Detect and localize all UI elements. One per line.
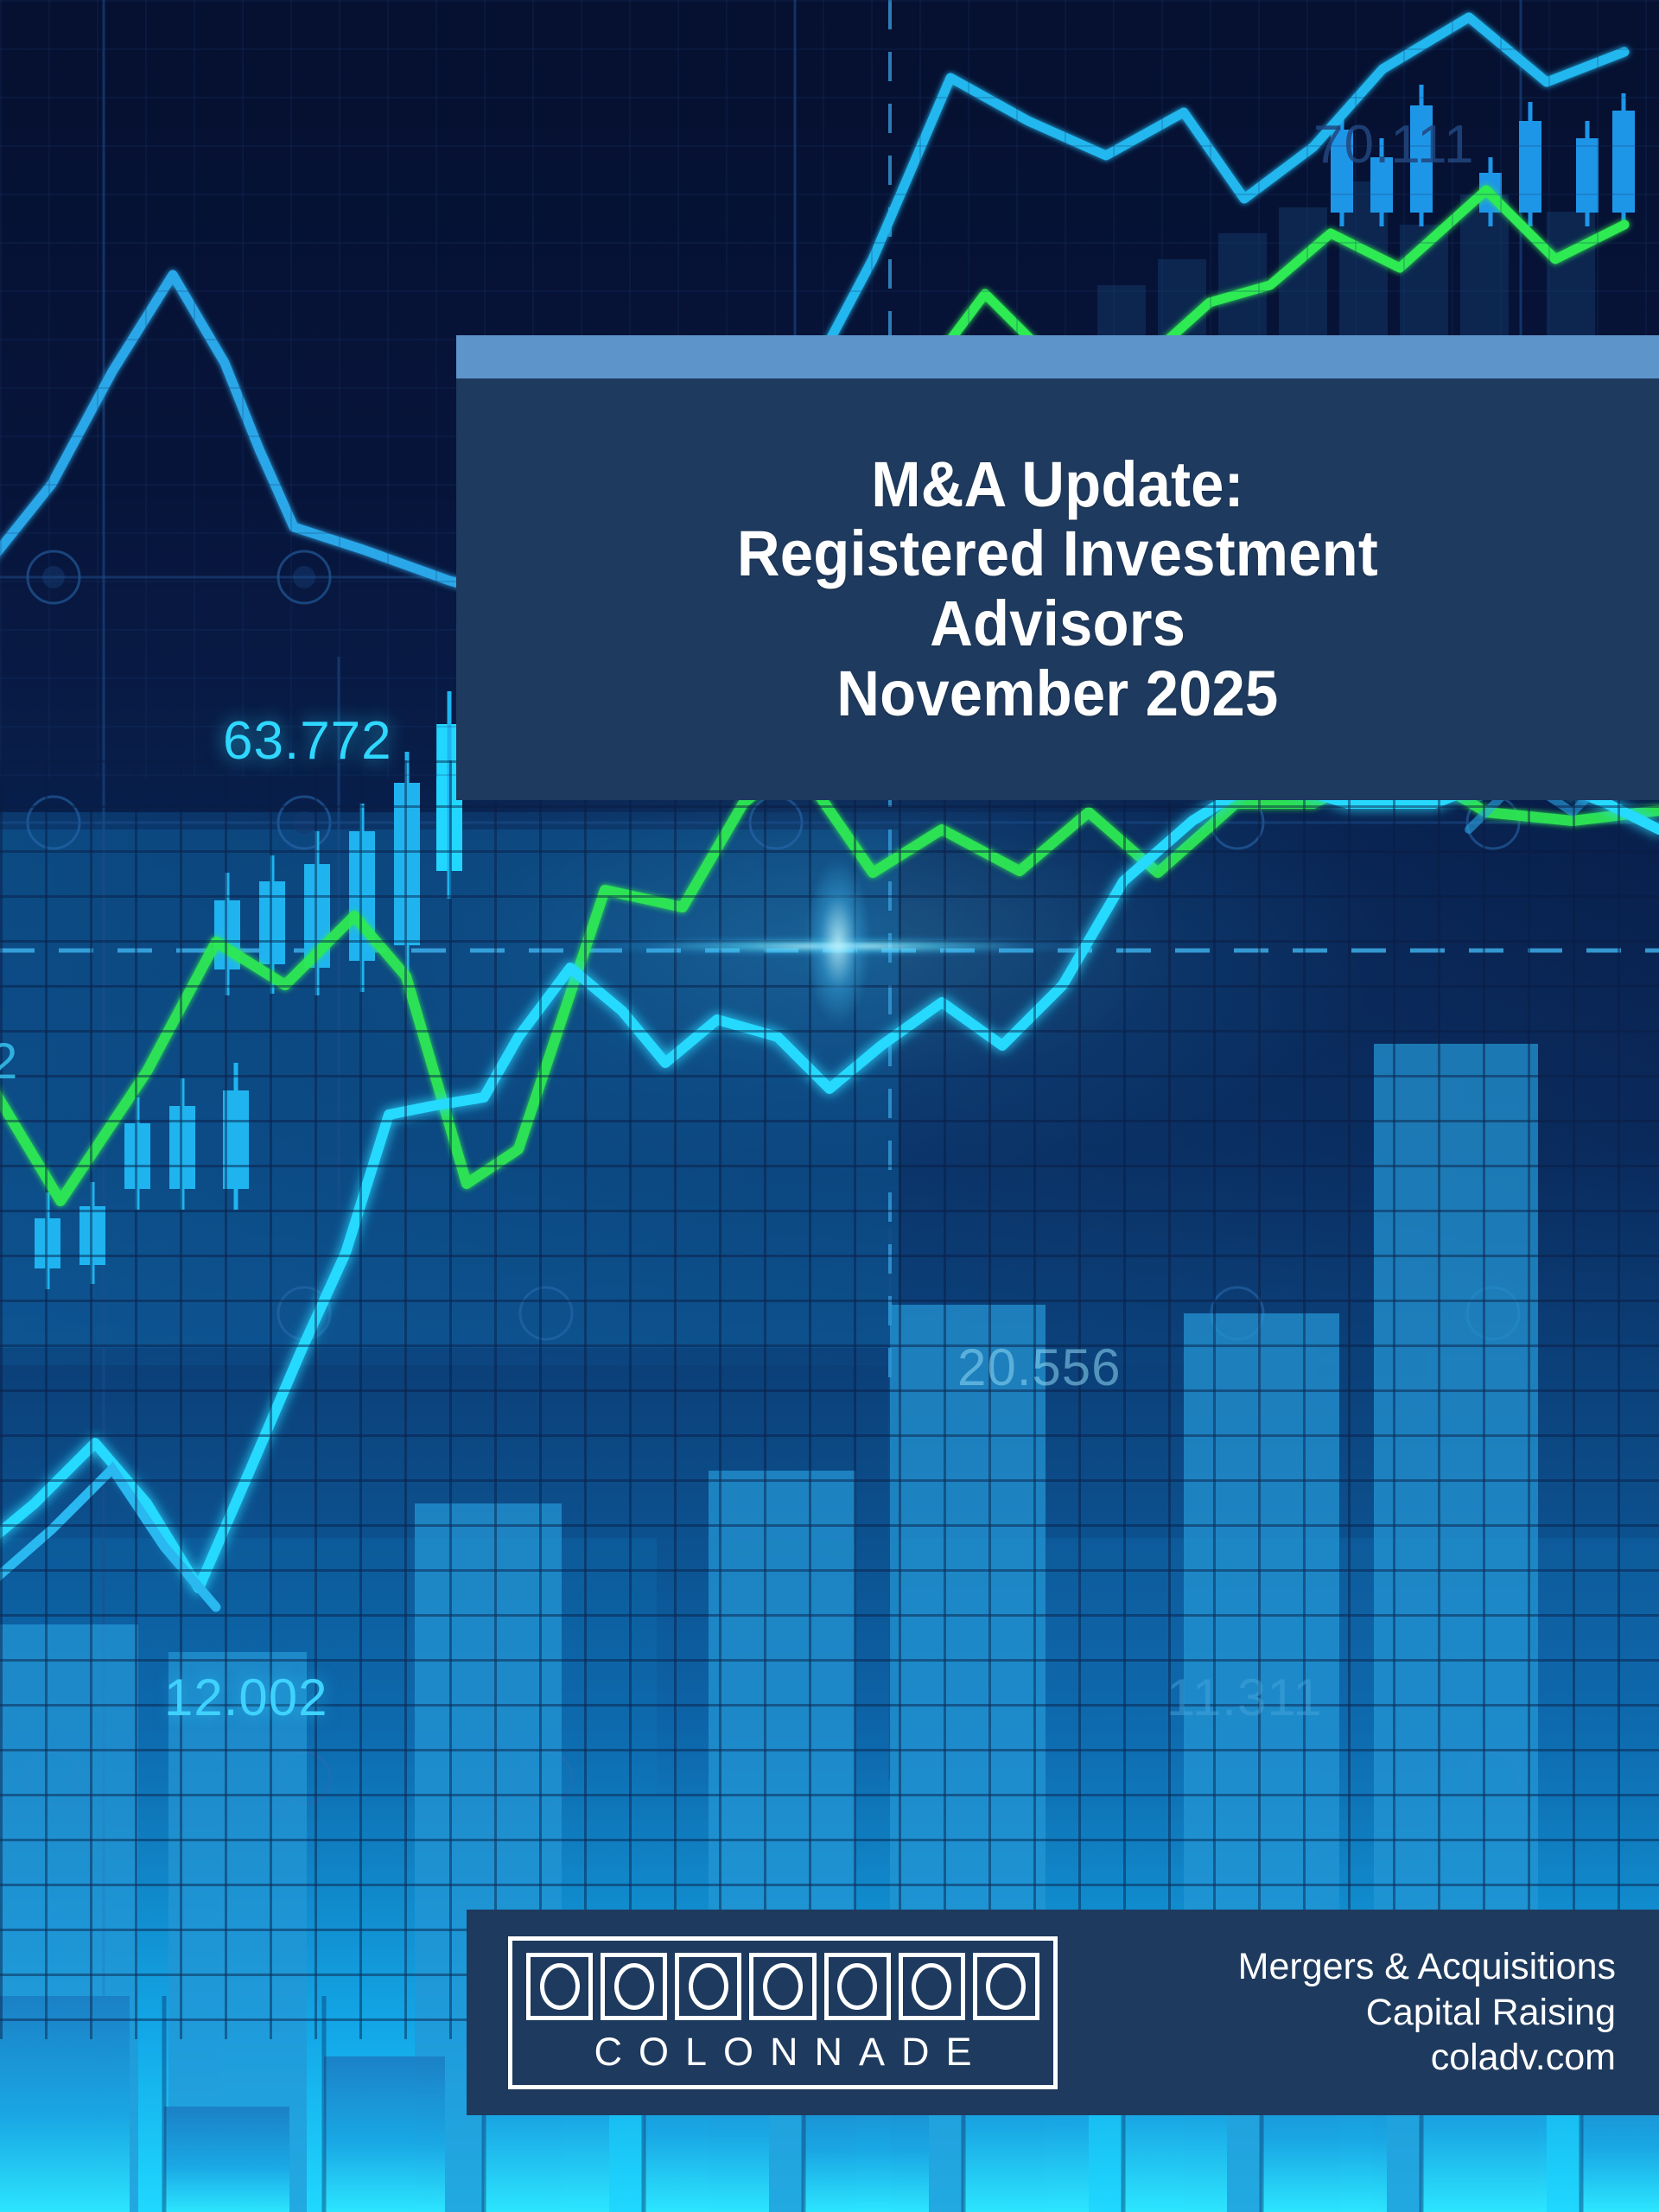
- logo-column-icon: [526, 1953, 593, 2020]
- financial-background-illustration: [0, 0, 1659, 2212]
- logo-column-icon: [749, 1953, 816, 2020]
- circle-icon: [912, 1963, 951, 2010]
- page-title-line-2: Registered Investment: [737, 519, 1378, 589]
- logo-column-icon: [601, 1953, 667, 2020]
- title-card-accent-bar: [456, 335, 1659, 378]
- circle-icon: [763, 1963, 803, 2010]
- page-title-line-1: M&A Update:: [871, 450, 1244, 520]
- logo-wordmark: COLONNADE: [526, 2032, 1039, 2071]
- circle-icon: [837, 1963, 877, 2010]
- page-title-line-4: November 2025: [836, 659, 1278, 729]
- footer-website-link[interactable]: coladv.com: [1058, 2035, 1616, 2081]
- circle-icon: [986, 1963, 1026, 2010]
- circle-icon: [614, 1963, 654, 2010]
- logo-column-icon: [973, 1953, 1039, 2020]
- logo-column-icon: [899, 1953, 965, 2020]
- logo-column-icon: [824, 1953, 891, 2020]
- circle-icon: [689, 1963, 728, 2010]
- colonnade-logo: COLONNADE: [508, 1936, 1058, 2089]
- logo-column-row: [526, 1953, 1039, 2020]
- footer-card: COLONNADE Mergers & Acquisitions Capital…: [467, 1910, 1659, 2115]
- footer-contact-block: Mergers & Acquisitions Capital Raising c…: [1058, 1944, 1659, 2082]
- report-cover-page: 70.111 63.772 20.556 12.002 11.311 2 M&A…: [0, 0, 1659, 2212]
- logo-column-icon: [675, 1953, 741, 2020]
- footer-service-line-2: Capital Raising: [1058, 1990, 1616, 2036]
- title-card: M&A Update: Registered Investment Adviso…: [456, 335, 1659, 800]
- page-title-line-3: Advisors: [930, 589, 1185, 659]
- circle-icon: [540, 1963, 580, 2010]
- logo-outer-frame: COLONNADE: [508, 1936, 1058, 2089]
- title-card-body: M&A Update: Registered Investment Adviso…: [456, 378, 1659, 800]
- footer-service-line-1: Mergers & Acquisitions: [1058, 1944, 1616, 1990]
